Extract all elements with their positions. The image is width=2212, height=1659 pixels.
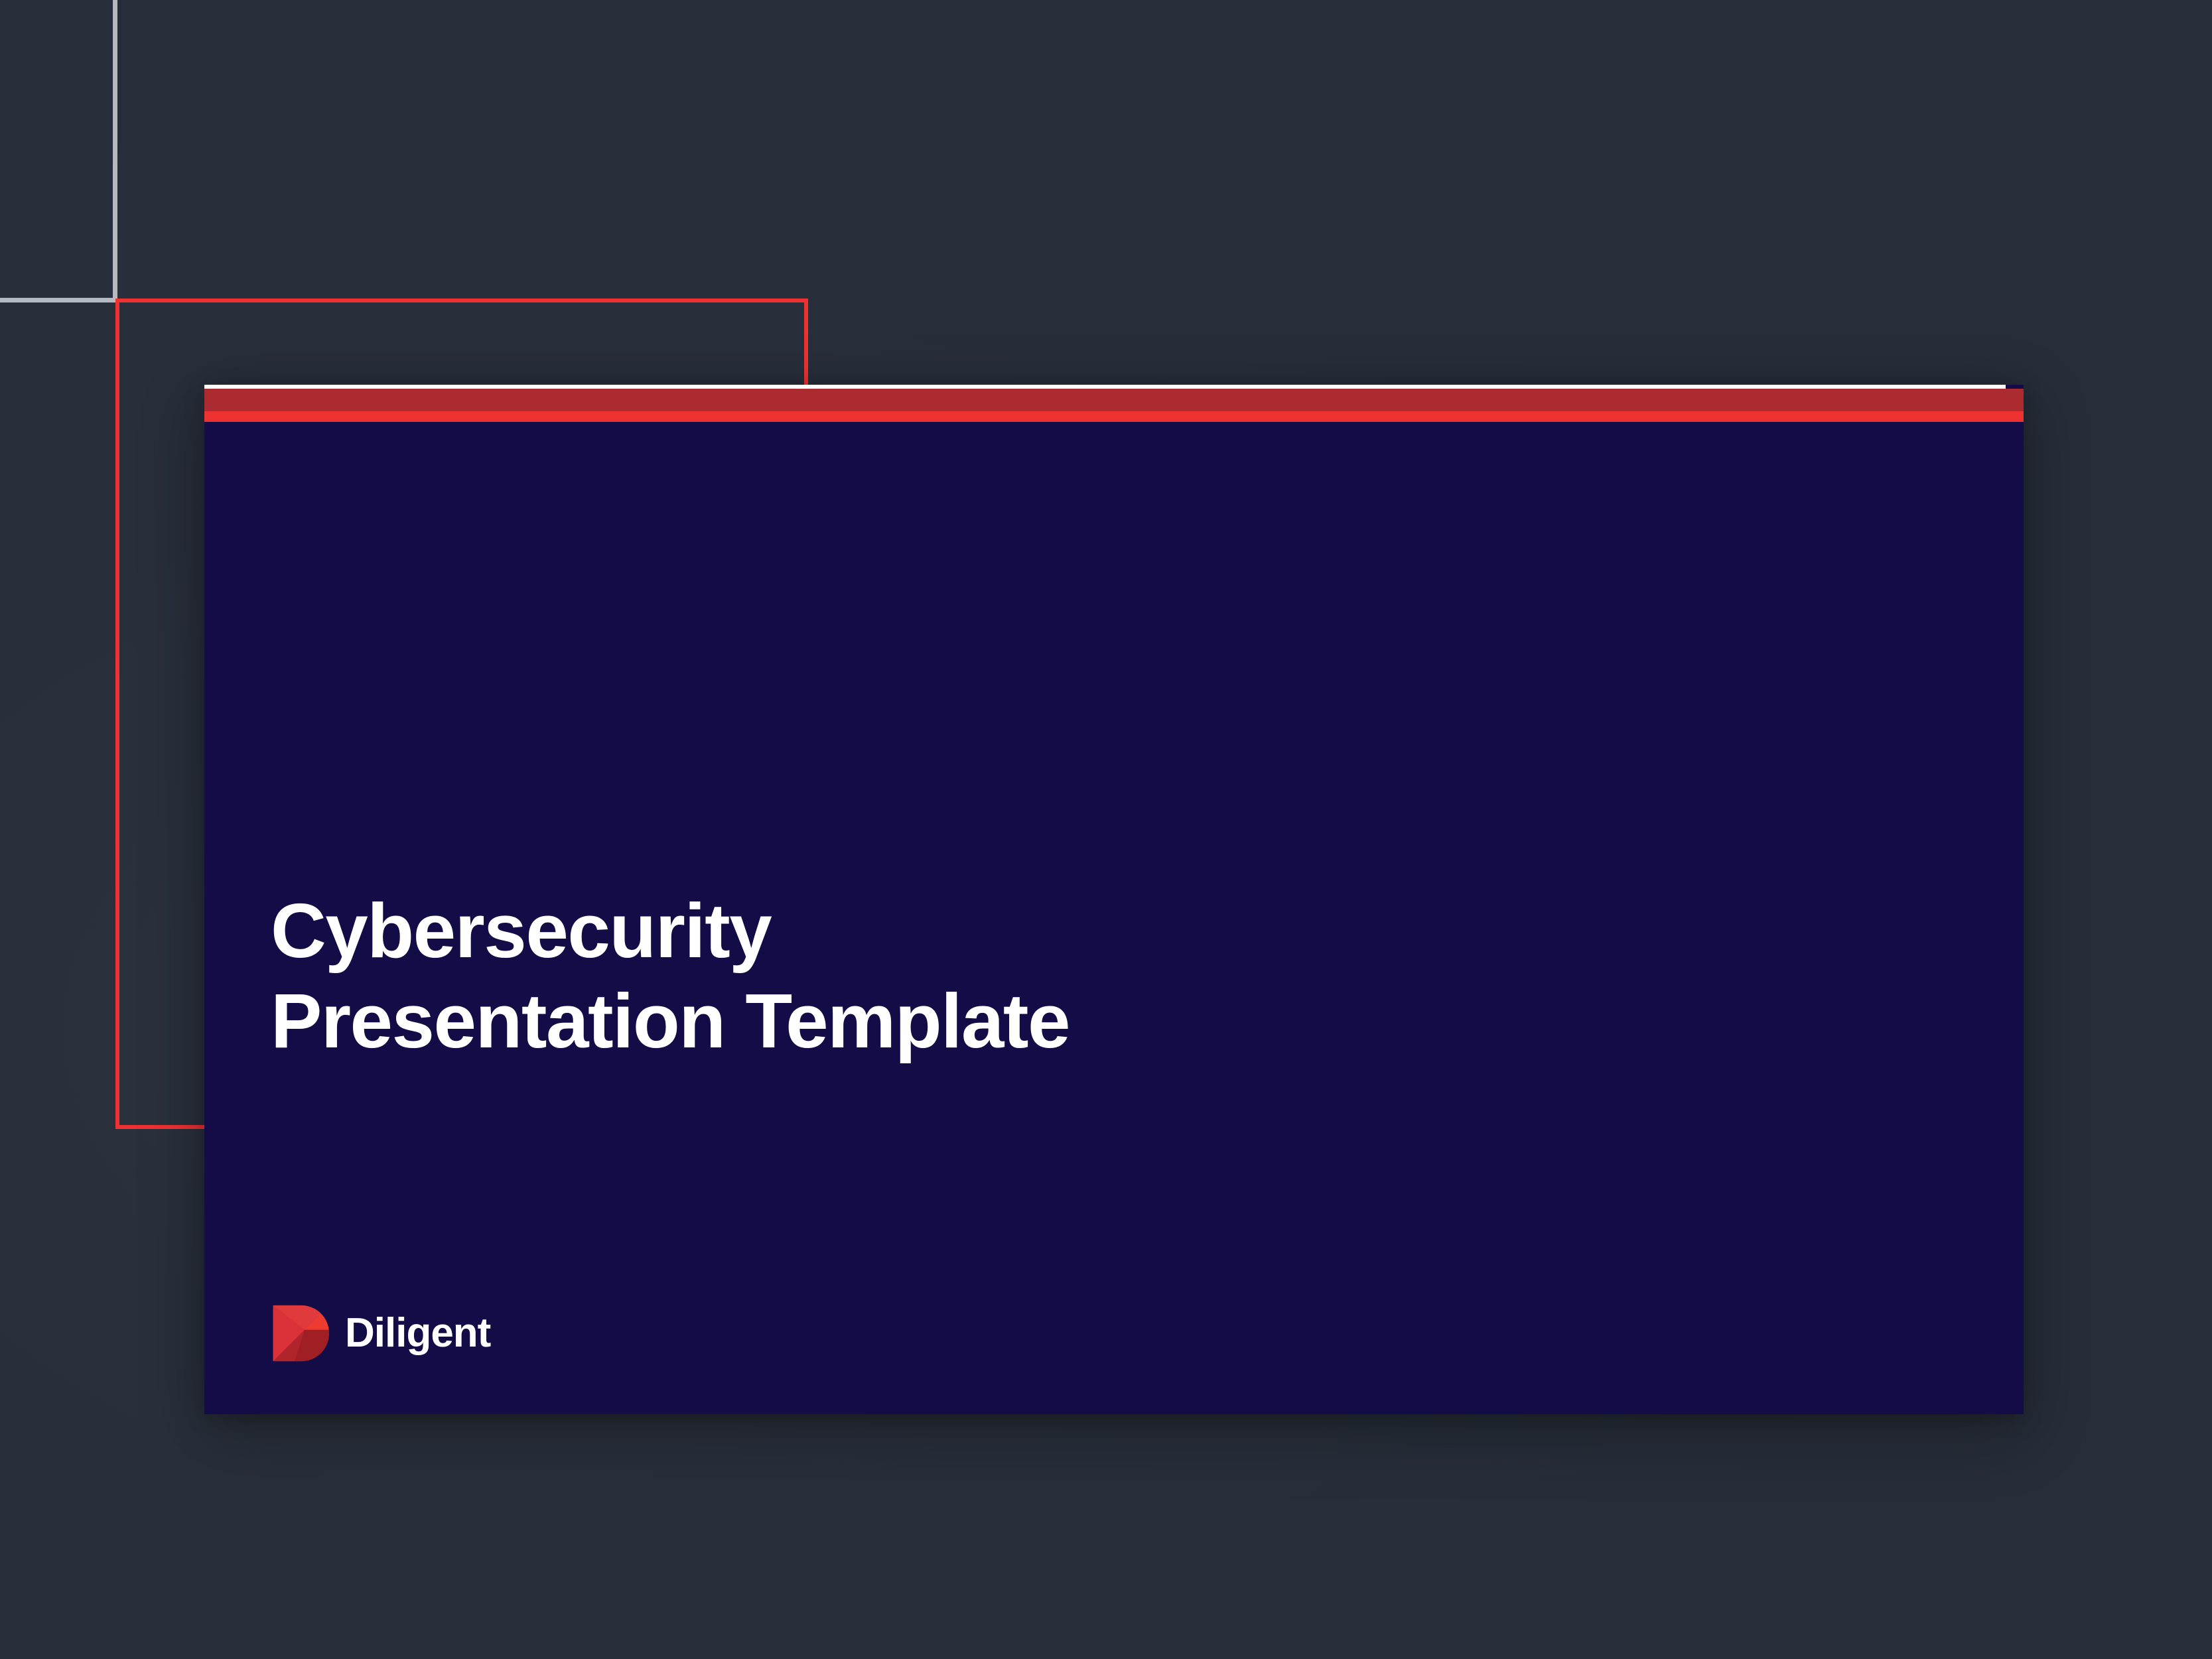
slide-top-bright-red-band [204, 411, 2024, 422]
gray-horizontal-rule [0, 298, 117, 302]
slide-top-dark-red-band [204, 389, 2024, 411]
page-title: Cybersecurity Presentation Template [271, 886, 1070, 1066]
diligent-wordmark: Diligent [345, 1313, 490, 1354]
slide-body: Cybersecurity Presentation Template [204, 422, 2024, 1414]
title-slide[interactable]: Cybersecurity Presentation Template [204, 385, 2024, 1414]
diligent-logo: Diligent [271, 1304, 490, 1362]
slide-canvas: Cybersecurity Presentation Template [0, 0, 2212, 1659]
diligent-d-mark-icon [271, 1304, 329, 1362]
gray-vertical-rule [113, 0, 117, 302]
